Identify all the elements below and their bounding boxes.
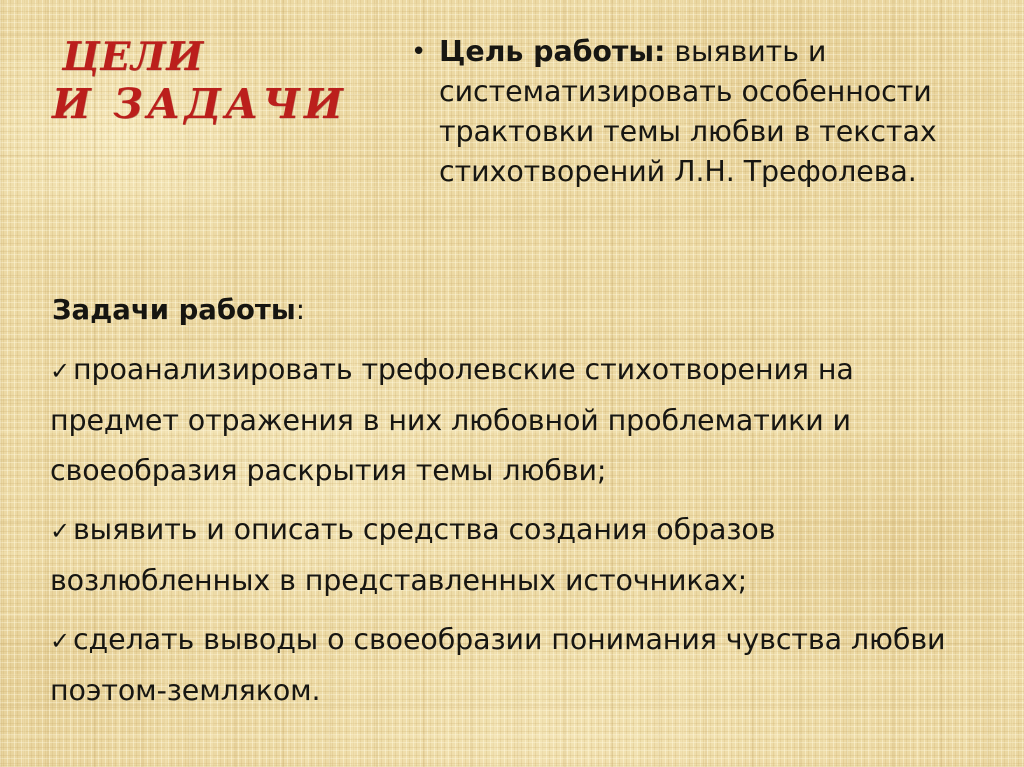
check-icon: ✓	[50, 616, 70, 666]
bullet-dot-icon: •	[405, 32, 439, 72]
tasks-heading-colon: :	[296, 294, 305, 326]
check-icon: ✓	[50, 506, 70, 556]
list-item: ✓сделать выводы о своеобразии понимания …	[50, 615, 985, 716]
tasks-heading-label: Задачи работы	[52, 294, 296, 326]
check-icon: ✓	[50, 346, 70, 396]
list-item-text: сделать выводы о своеобразии понимания ч…	[50, 623, 945, 707]
goal-block: • Цель работы: выявить и систематизирова…	[405, 32, 990, 192]
list-item-text: проанализировать трефолевские стихотворе…	[50, 353, 854, 487]
presentation-slide: ЦЕЛИ И ЗАДАЧИ • Цель работы: выявить и с…	[0, 0, 1024, 767]
slide-title-line-1: ЦЕЛИ	[52, 38, 382, 78]
slide-title-line-2: И ЗАДАЧИ	[52, 84, 382, 126]
list-item: ✓проанализировать трефолевские стихотвор…	[50, 345, 985, 496]
slide-title: ЦЕЛИ И ЗАДАЧИ	[52, 38, 382, 126]
goal-text: Цель работы: выявить и систематизировать…	[439, 32, 990, 192]
list-item: ✓выявить и описать средства создания обр…	[50, 505, 985, 606]
slide-content: ЦЕЛИ И ЗАДАЧИ • Цель работы: выявить и с…	[0, 0, 1024, 767]
tasks-heading: Задачи работы:	[52, 292, 305, 328]
tasks-list: ✓проанализировать трефолевские стихотвор…	[50, 345, 985, 725]
list-item-text: выявить и описать средства создания обра…	[50, 513, 775, 597]
goal-label: Цель работы:	[439, 35, 665, 68]
goal-bullet-row: • Цель работы: выявить и систематизирова…	[405, 32, 990, 192]
